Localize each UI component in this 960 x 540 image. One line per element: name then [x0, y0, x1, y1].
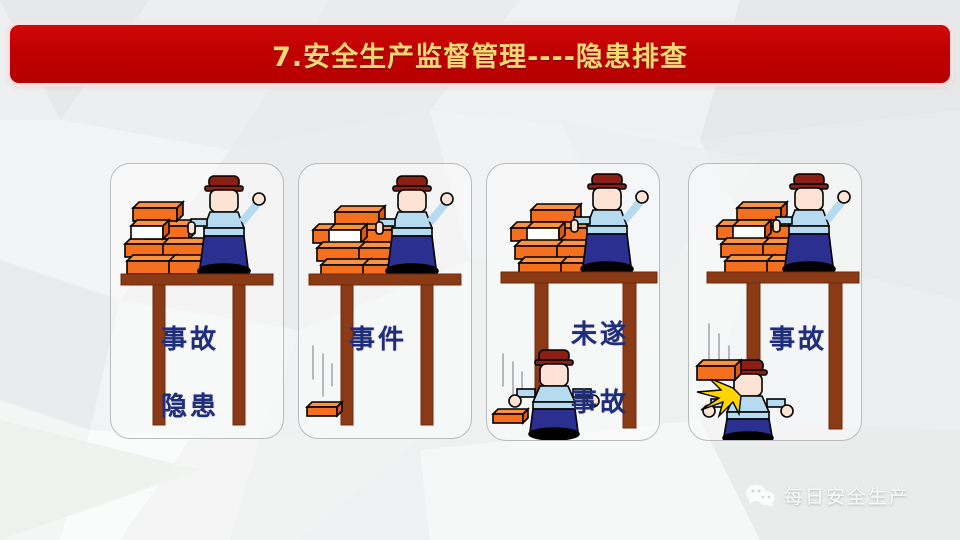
watermark-text: 每日安全生产	[784, 482, 910, 509]
fallen-brick	[307, 402, 342, 416]
panel-near-miss[interactable]: 未遂 事故	[486, 163, 660, 441]
panel-3-label-0: 未遂	[571, 314, 629, 351]
panel-hidden-danger[interactable]: 事故 隐患	[110, 163, 284, 439]
panel-accident[interactable]: 事故	[688, 163, 862, 441]
watermark: 每日安全生产	[745, 482, 910, 509]
panel-3-label-1: 事故	[571, 382, 629, 419]
panel-1-label-0: 事故	[161, 319, 219, 356]
slide-canvas: 7.安全生产监督管理----隐患排查	[0, 0, 960, 540]
fallen-brick	[493, 409, 528, 423]
panel-1-label-1: 隐患	[161, 386, 219, 423]
slide-title: 7.安全生产监督管理----隐患排查	[272, 35, 688, 74]
motion-lines	[313, 346, 332, 396]
wechat-icon	[745, 484, 775, 508]
panel-4-illustration	[689, 164, 861, 440]
panel-4-label-0: 事故	[769, 319, 827, 356]
falling-brick	[697, 360, 741, 380]
panel-2-illustration	[299, 164, 471, 438]
panel-2-label-0: 事件	[349, 319, 407, 356]
slide-title-bar: 7.安全生产监督管理----隐患排查	[10, 25, 950, 83]
panel-incident[interactable]: 事件	[298, 163, 472, 439]
